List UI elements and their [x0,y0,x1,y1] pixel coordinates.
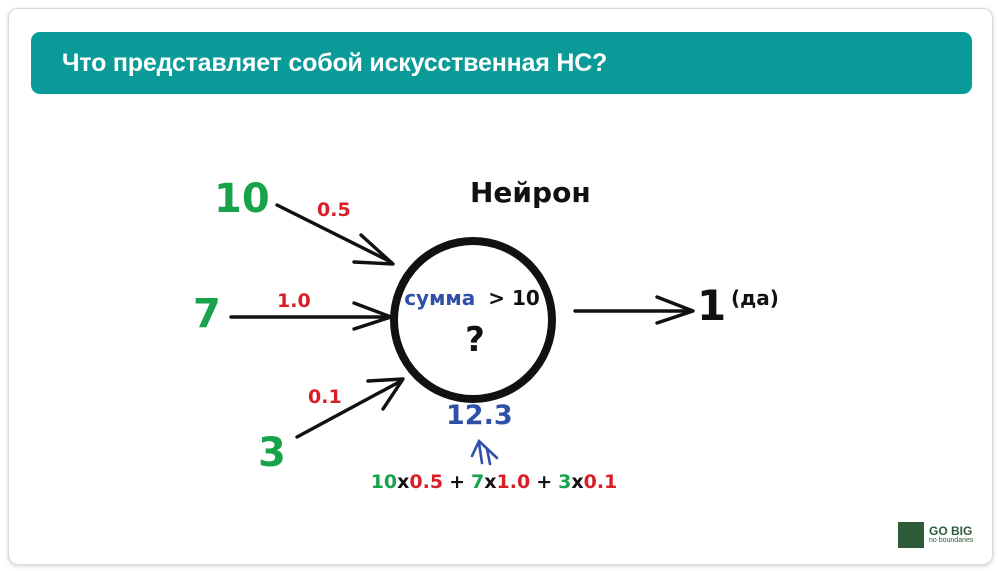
output-value: 1 [697,285,726,327]
neuron-condition-compare: > 10 [488,286,540,310]
input-weight-2: 1.0 [277,292,311,311]
formula-term-2-input: 7 [471,471,484,493]
formula-term-3-weight: 0.1 [584,471,618,493]
formula-plus-1: + [449,471,465,493]
neuron-question-mark: ? [400,320,550,360]
sum-result: 12.3 [446,402,513,429]
logo-text-block: GO BIG no boundaries [929,525,973,546]
neuron-condition-word: сумма [404,286,475,310]
sum-formula: 10x0.5+7x1.0+3x0.1 [309,471,679,493]
formula-term-1-input: 10 [371,471,397,493]
neuron-label: Нейрон [470,179,591,207]
slide-card: Что представляет собой искусственная НС? [8,8,993,565]
formula-plus-2: + [536,471,552,493]
logo-name: GO BIG [929,525,973,538]
formula-term-1-weight: 0.5 [409,471,443,493]
input-value-1: 10 [214,179,270,219]
neuron-condition: сумма > 10 [400,286,550,310]
formula-term-3-input: 3 [558,471,571,493]
formula-term-3-op: x [571,471,583,493]
input-value-3: 3 [258,433,286,473]
logo-tagline: no boundaries [929,537,973,545]
sum-pointer-icon [472,441,497,464]
input-weight-3: 0.1 [308,388,342,407]
formula-term-2-weight: 1.0 [497,471,531,493]
formula-term-1-op: x [397,471,409,493]
output-note: (да) [731,288,779,308]
formula-term-2-op: x [484,471,496,493]
input-weight-1: 0.5 [317,201,351,220]
input-2-arrow [231,303,391,329]
input-value-2: 7 [193,294,221,334]
brand-logo: GO BIG no boundaries [898,522,973,548]
diagram-canvas: 10 0.5 7 1.0 3 0.1 Нейрон сумма > 10 ? 1… [9,9,992,564]
output-arrow [575,297,693,323]
logo-square-icon [898,522,924,548]
